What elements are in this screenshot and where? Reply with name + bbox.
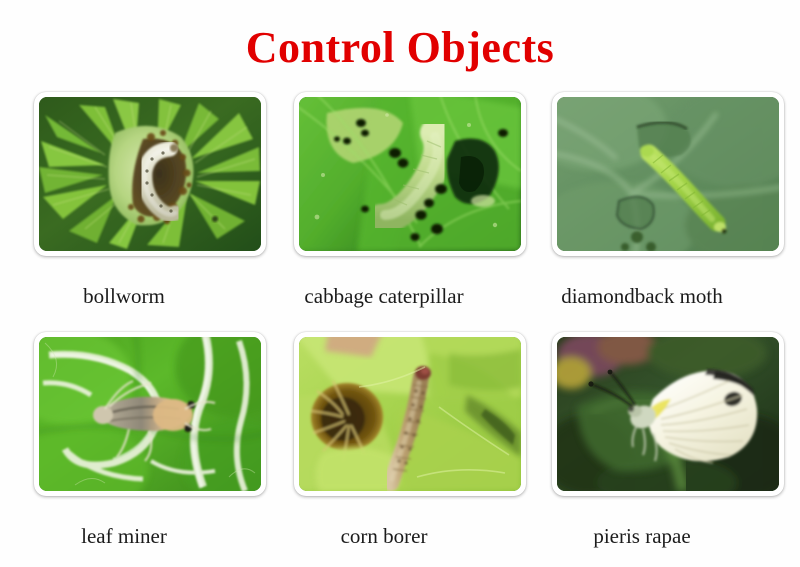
- control-objects-grid: bollworm: [0, 92, 800, 564]
- item-caption: leaf miner: [8, 524, 240, 548]
- item-caption: bollworm: [8, 284, 240, 308]
- corn-borer-photo: [299, 337, 521, 491]
- item-caption: pieris rapae: [526, 524, 758, 548]
- leaf-miner-photo: [39, 337, 261, 491]
- image-card[interactable]: [34, 92, 266, 256]
- gallery-item-corn-borer[interactable]: corn borer: [294, 332, 526, 496]
- item-caption: diamondback moth: [526, 284, 758, 308]
- item-caption: cabbage caterpillar: [268, 284, 500, 308]
- gallery-item-cabbage-caterpillar[interactable]: cabbage caterpillar: [294, 92, 526, 256]
- image-card[interactable]: [552, 92, 784, 256]
- gallery-row-1: bollworm: [0, 92, 800, 324]
- gallery-item-pieris-rapae[interactable]: pieris rapae: [552, 332, 784, 496]
- pieris-rapae-photo: [557, 337, 779, 491]
- page-title: Control Objects: [0, 22, 800, 74]
- cabbage-caterpillar-photo: [299, 97, 521, 251]
- bollworm-photo: [39, 97, 261, 251]
- gallery-item-bollworm[interactable]: bollworm: [34, 92, 266, 256]
- poster-page: Control Objects: [0, 0, 800, 567]
- image-card[interactable]: [294, 92, 526, 256]
- gallery-item-diamondback-moth[interactable]: diamondback moth: [552, 92, 784, 256]
- gallery-row-2: leaf miner: [0, 332, 800, 564]
- image-card[interactable]: [294, 332, 526, 496]
- gallery-item-leaf-miner[interactable]: leaf miner: [34, 332, 266, 496]
- image-card[interactable]: [34, 332, 266, 496]
- item-caption: corn borer: [268, 524, 500, 548]
- image-card[interactable]: [552, 332, 784, 496]
- diamondback-moth-photo: [557, 97, 779, 251]
